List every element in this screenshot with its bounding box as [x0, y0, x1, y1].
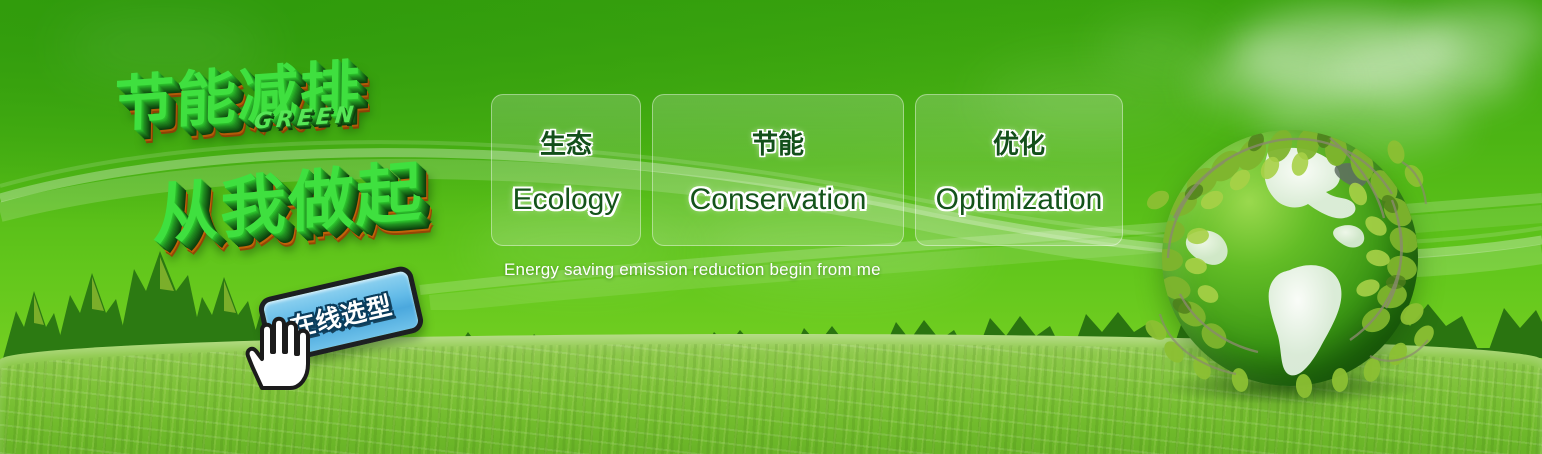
hand-pointer-icon [242, 314, 316, 392]
feature-card-group: 生态 Ecology 节能 Conservation 优化 Optimizati… [491, 94, 1123, 246]
cloud-icon [1420, 4, 1542, 60]
feature-card-en-label: Ecology [513, 183, 620, 217]
leafy-earth-globe [1140, 108, 1440, 408]
green-banner: 节能减排 GREEN 从我做起 在线选型 生态 Ecology 节能 Conse… [0, 0, 1542, 454]
feature-card-optimization[interactable]: 优化 Optimization [915, 94, 1123, 246]
banner-tagline: Energy saving emission reduction begin f… [504, 260, 881, 280]
feature-card-en-label: Conservation [690, 183, 867, 217]
feature-card-cn-label: 生态 [540, 124, 592, 161]
feature-card-en-label: Optimization [936, 183, 1103, 217]
feature-card-conservation[interactable]: 节能 Conservation [652, 94, 904, 246]
feature-card-cn-label: 优化 [993, 124, 1045, 161]
headline-3d: 节能减排 GREEN 从我做起 [104, 42, 484, 272]
headline-line-2: 从我做起 [153, 138, 424, 258]
feature-card-cn-label: 节能 [752, 124, 804, 161]
feature-card-ecology[interactable]: 生态 Ecology [491, 94, 641, 246]
